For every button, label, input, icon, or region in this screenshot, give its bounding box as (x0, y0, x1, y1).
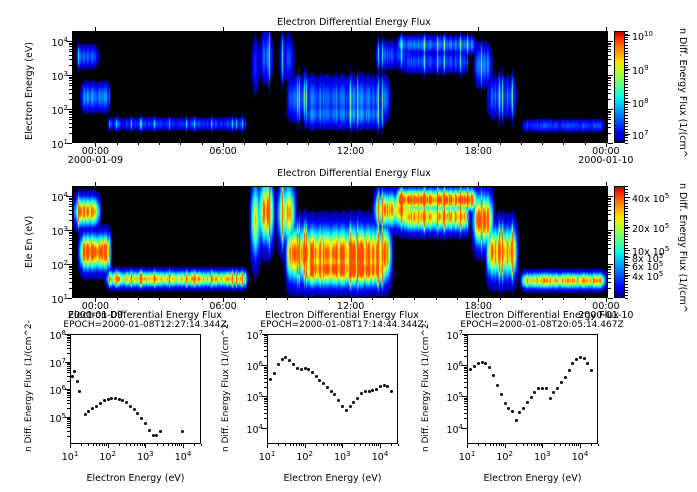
x-tick-minor (496, 444, 497, 446)
data-point (556, 387, 559, 390)
colorbar-tick-minor (625, 225, 628, 226)
y-tick-major-right (608, 41, 613, 42)
colorbar-tick (625, 257, 630, 258)
data-point (568, 369, 571, 372)
y-tick-minor (69, 114, 72, 115)
x-tick-minor (574, 444, 575, 446)
data-point (341, 405, 344, 408)
x-tick-minor (180, 298, 181, 300)
x-tick-date-label: 2000-01-10 (576, 156, 636, 166)
colorbar-tick-minor (625, 217, 628, 218)
data-point (71, 375, 74, 378)
x-tick-minor (117, 143, 118, 145)
data-point (307, 368, 310, 371)
y-tick-minor (67, 408, 70, 409)
y-tick-minor-right (608, 214, 611, 215)
y-tick-minor (464, 343, 467, 344)
top-spectrogram[interactable] (72, 31, 608, 143)
colorbar-tick-minor (625, 295, 628, 296)
data-point (586, 362, 589, 365)
x-tick-minor (354, 444, 355, 446)
x-tick-major-top (478, 27, 479, 31)
x-tick-minor (369, 444, 370, 446)
y-tick-minor (69, 214, 72, 215)
data-point (545, 387, 548, 390)
x-tick-label: 103 (129, 449, 161, 463)
y-tick-minor (69, 85, 72, 86)
colorbar-tick-minor (625, 123, 628, 124)
colorbar-tick-minor (625, 231, 628, 232)
x-tick-minor (95, 298, 96, 300)
colorbar-tick-minor (625, 140, 628, 141)
data-point (292, 363, 295, 366)
x-tick-minor (290, 444, 291, 446)
x-tick-minor (376, 444, 377, 446)
y-tick-minor-right (608, 78, 611, 79)
y-tick-minor (67, 425, 70, 426)
y-tick-minor (264, 413, 267, 414)
y-tick-minor (464, 378, 467, 379)
x-tick-minor (516, 444, 517, 446)
y-tick-minor (464, 387, 467, 388)
y-tick-minor (464, 341, 467, 342)
x-tick-minor (323, 444, 324, 446)
y-tick-minor (69, 272, 72, 273)
colorbar-tick-minor (625, 81, 628, 82)
data-point (99, 402, 102, 405)
x-tick-major (183, 444, 184, 448)
colorbar-tick-minor (625, 290, 628, 291)
x-tick-minor (301, 444, 302, 446)
data-point (473, 365, 476, 368)
y-tick-minor (69, 55, 72, 56)
y-tick-label: 107 (433, 328, 463, 342)
x-tick-minor (287, 298, 288, 300)
colorbar-tick-minor (625, 45, 628, 46)
x-tick-minor (478, 143, 479, 145)
spectrum-1-ylabel: n Diff. Energy Flux (1/(cm^2- (24, 320, 34, 452)
data-point (284, 356, 287, 359)
y-tick-label: 103 (38, 69, 68, 83)
x-tick-minor (99, 444, 100, 446)
colorbar-tick-minor (625, 59, 628, 60)
x-tick-minor (202, 298, 203, 300)
y-tick-minor (69, 244, 72, 245)
top-colorbar-label: n Diff. Energy Flux (1/(cm^ (677, 28, 688, 158)
x-tick-minor (157, 444, 158, 446)
x-tick-minor (531, 444, 532, 446)
colorbar-tick-minor (625, 200, 628, 201)
x-tick-minor (554, 444, 555, 446)
data-point (477, 362, 480, 365)
x-tick-major-top (223, 27, 224, 31)
y-tick-minor (464, 346, 467, 347)
colorbar-tick-minor (625, 262, 628, 263)
data-point (269, 378, 272, 381)
x-tick-date-label: 2000-01-09 (65, 156, 125, 166)
y-tick-minor (67, 392, 70, 393)
y-tick-major-right (608, 196, 613, 197)
colorbar-tick-minor (625, 203, 628, 204)
spectrum-3-ylabel: n Diff. Energy Flux (1/(cm^2- (421, 320, 431, 452)
y-tick-minor (69, 51, 72, 52)
middle-colorbar-label: n Diff. Energy Flux (1/(cm^ (677, 183, 688, 313)
x-tick-minor (102, 444, 103, 446)
colorbar-tick-minor (625, 208, 628, 209)
colorbar-tick-minor (625, 222, 628, 223)
x-tick-minor (565, 444, 566, 446)
colorbar-tick-minor (625, 189, 628, 190)
data-point (95, 405, 98, 408)
y-tick-minor (464, 367, 467, 368)
colorbar-tick-label: 1010 (632, 29, 653, 43)
x-tick-major (305, 444, 306, 448)
y-tick-minor (67, 400, 70, 401)
y-tick-minor-right (608, 269, 611, 270)
colorbar-tick-minor (625, 256, 628, 257)
colorbar-tick-minor (625, 87, 628, 88)
data-point (360, 392, 363, 395)
spectrum-1-plot[interactable] (70, 334, 201, 444)
x-tick-minor (503, 444, 504, 446)
data-point (103, 399, 106, 402)
x-tick-minor (563, 143, 564, 145)
x-tick-minor (572, 444, 573, 446)
y-tick-minor (264, 350, 267, 351)
colorbar-tick-minor (625, 228, 628, 229)
data-point (579, 356, 582, 359)
y-tick-minor (264, 378, 267, 379)
x-tick-minor (285, 444, 286, 446)
y-tick-label: 106 (36, 383, 66, 397)
colorbar-tick-minor (625, 67, 628, 68)
x-tick-minor (569, 444, 570, 446)
y-tick-major-right (608, 264, 613, 265)
y-tick-minor (464, 403, 467, 404)
colorbar-tick-minor (625, 220, 628, 221)
y-tick-minor (69, 274, 72, 275)
y-tick-minor (67, 340, 70, 341)
y-tick-minor (67, 395, 70, 396)
x-tick-minor (163, 444, 164, 446)
x-tick-minor (179, 444, 180, 446)
y-tick-minor (69, 210, 72, 211)
colorbar-tick-label: 107 (632, 128, 649, 142)
x-tick-major (505, 444, 506, 448)
colorbar-tick-minor (625, 287, 628, 288)
y-tick-minor (69, 59, 72, 60)
x-tick-minor (606, 298, 607, 300)
x-tick-major-top (351, 182, 352, 186)
data-point (560, 381, 563, 384)
x-tick-minor (414, 298, 415, 300)
y-tick-minor (69, 201, 72, 202)
colorbar-tick-minor (625, 186, 628, 187)
colorbar-tick-minor (625, 115, 628, 116)
data-point (326, 386, 329, 389)
colorbar-tick-minor (625, 56, 628, 57)
y-tick-minor-right (608, 49, 611, 50)
spectrum-3-xlabel: Electron Energy (eV) (467, 473, 598, 484)
y-tick-minor-right (608, 199, 611, 200)
middle-colorbar (614, 186, 625, 298)
data-point (530, 396, 533, 399)
y-tick-minor (69, 198, 72, 199)
x-tick-minor (329, 143, 330, 145)
y-tick-minor (69, 123, 72, 124)
x-tick-minor (138, 298, 139, 300)
data-point (515, 419, 518, 422)
data-point (469, 368, 472, 371)
y-tick-label: 105 (36, 411, 66, 425)
y-tick-minor (69, 232, 72, 233)
y-tick-label: 102 (38, 103, 68, 117)
y-tick-minor (67, 427, 70, 428)
colorbar-tick-minor (625, 98, 628, 99)
y-tick-minor-right (608, 240, 611, 241)
colorbar-tick-minor (625, 51, 628, 52)
x-tick-minor (287, 143, 288, 145)
y-tick-minor (69, 89, 72, 90)
data-point (140, 417, 143, 420)
x-tick-minor (372, 444, 373, 446)
x-tick-minor (500, 298, 501, 300)
x-tick-minor (457, 143, 458, 145)
y-tick-minor (69, 117, 72, 118)
x-tick-minor (316, 444, 317, 446)
colorbar-tick-minor (625, 248, 628, 249)
y-tick-minor (69, 112, 72, 113)
x-tick-minor (378, 444, 379, 446)
data-point (390, 390, 393, 393)
x-tick-minor (542, 298, 543, 300)
data-point (371, 389, 374, 392)
data-point (481, 361, 484, 364)
colorbar-tick-minor (625, 101, 628, 102)
data-point (330, 390, 333, 393)
x-tick-minor (560, 444, 561, 446)
data-point (277, 363, 280, 366)
x-tick-minor (244, 143, 245, 145)
y-tick-minor (69, 204, 72, 205)
y-tick-minor (67, 348, 70, 349)
x-tick-major (145, 444, 146, 448)
x-tick-minor (372, 143, 373, 145)
x-tick-minor (180, 143, 181, 145)
x-tick-label: 103 (526, 449, 558, 463)
y-tick-minor (464, 337, 467, 338)
x-tick-minor (542, 143, 543, 145)
y-tick-label: 108 (36, 328, 66, 342)
colorbar-tick (625, 35, 630, 36)
data-point (533, 391, 536, 394)
data-point (541, 387, 544, 390)
colorbar-tick-minor (625, 250, 628, 251)
x-tick-minor (500, 143, 501, 145)
x-tick-minor (606, 143, 607, 145)
data-point (315, 375, 318, 378)
colorbar-tick-minor (625, 70, 628, 71)
y-tick-minor-right (608, 117, 611, 118)
colorbar-tick (625, 102, 630, 103)
middle-spectrogram[interactable] (72, 186, 608, 298)
x-tick-label: 101 (251, 449, 283, 463)
x-tick-major-top (95, 27, 96, 31)
x-tick-minor (181, 444, 182, 446)
x-tick-minor (159, 143, 160, 145)
y-tick-minor (69, 65, 72, 66)
y-tick-label: 106 (433, 359, 463, 373)
data-point (356, 397, 359, 400)
x-tick-minor (541, 444, 542, 446)
colorbar-tick-minor (625, 137, 628, 138)
spectrum-1-subtitle: EPOCH=2000-01-08T12:27:14.344Z (40, 320, 250, 330)
x-tick-major (342, 444, 343, 448)
x-tick-label: 06:00 (201, 147, 245, 157)
y-tick-minor (464, 401, 467, 402)
y-tick-minor (69, 269, 72, 270)
x-tick-minor (339, 444, 340, 446)
colorbar-tick-minor (625, 84, 628, 85)
x-tick-major (580, 444, 581, 448)
y-tick-minor (464, 409, 467, 410)
x-tick-minor (499, 444, 500, 446)
colorbar-tick-minor (625, 239, 628, 240)
x-tick-major-top (478, 182, 479, 186)
y-tick-major-right (608, 230, 613, 231)
spectrum-2-plot[interactable] (267, 334, 398, 444)
x-tick-minor (168, 444, 169, 446)
top-panel-ylabel: Electron Energy (eV) (24, 42, 35, 140)
data-point (345, 409, 348, 412)
y-tick-minor (264, 367, 267, 368)
data-point (552, 391, 555, 394)
colorbar-tick (625, 265, 630, 266)
x-tick-minor (93, 444, 94, 446)
data-point (133, 408, 136, 411)
x-tick-minor (391, 444, 392, 446)
x-tick-minor (414, 143, 415, 145)
y-tick-minor (264, 370, 267, 371)
y-tick-minor (69, 133, 72, 134)
colorbar-tick-minor (625, 270, 628, 271)
data-point (379, 385, 382, 388)
y-tick-minor (464, 375, 467, 376)
x-tick-minor (598, 444, 599, 446)
x-tick-major (267, 444, 268, 448)
spectrum-3-plot[interactable] (467, 334, 598, 444)
spectrum-2-subtitle: EPOCH=2000-01-08T17:14:44.344Z (237, 320, 447, 330)
x-tick-label: 102 (289, 449, 321, 463)
x-tick-label: 102 (489, 449, 521, 463)
y-tick-minor (464, 406, 467, 407)
y-tick-label: 101 (38, 292, 68, 306)
colorbar-tick-minor (625, 281, 628, 282)
y-tick-minor-right (608, 112, 611, 113)
y-tick-minor (264, 337, 267, 338)
y-tick-minor-right (608, 238, 611, 239)
x-tick-minor (398, 444, 399, 446)
y-tick-minor (464, 350, 467, 351)
top-colorbar (614, 31, 625, 143)
y-tick-minor-right (608, 244, 611, 245)
x-tick-label: 104 (564, 449, 596, 463)
colorbar-tick-minor (625, 236, 628, 237)
y-tick-label: 104 (38, 190, 68, 204)
y-tick-minor (69, 235, 72, 236)
data-point (114, 397, 117, 400)
colorbar-tick-minor (625, 242, 628, 243)
colorbar-tick-minor (625, 109, 628, 110)
data-point (526, 401, 529, 404)
x-tick-minor (478, 298, 479, 300)
y-tick-minor (67, 345, 70, 346)
x-tick-minor (144, 444, 145, 446)
x-tick-minor (334, 444, 335, 446)
y-tick-minor (464, 370, 467, 371)
y-tick-minor (69, 282, 72, 283)
x-tick-minor (539, 444, 540, 446)
y-tick-minor (69, 206, 72, 207)
data-point (575, 358, 578, 361)
y-tick-minor (69, 111, 72, 112)
y-tick-minor (67, 423, 70, 424)
colorbar-tick-minor (625, 234, 628, 235)
top-colorbar-label-wrap: n Diff. Energy Flux (1/(cm^ (688, 28, 697, 39)
x-tick-minor (576, 444, 577, 446)
colorbar-tick-label: 108 (632, 96, 649, 110)
y-tick-minor (69, 99, 72, 100)
colorbar-tick-minor (625, 37, 628, 38)
y-tick-minor (264, 343, 267, 344)
y-tick-minor (67, 419, 70, 420)
y-tick-minor (69, 220, 72, 221)
x-tick-minor (223, 143, 224, 145)
y-tick-label: 107 (233, 328, 263, 342)
x-tick-label: 101 (451, 449, 483, 463)
x-tick-label: 104 (364, 449, 396, 463)
data-point (352, 401, 355, 404)
y-tick-label: 105 (433, 390, 463, 404)
colorbar-tick-minor (625, 206, 628, 207)
data-point (571, 362, 574, 365)
x-tick-label: 12:00 (329, 147, 373, 157)
x-tick-minor (172, 444, 173, 446)
colorbar-tick-minor (625, 253, 628, 254)
data-point (349, 405, 352, 408)
y-tick-major-right (608, 109, 613, 110)
y-tick-label: 102 (38, 258, 68, 272)
colorbar-tick-minor (625, 112, 628, 113)
y-tick-minor (69, 93, 72, 94)
y-tick-minor-right (608, 55, 611, 56)
colorbar-tick-label: 109 (632, 63, 649, 77)
data-point (375, 388, 378, 391)
y-tick-minor-right (608, 235, 611, 236)
x-tick-major (108, 444, 109, 448)
y-tick-minor-right (608, 206, 611, 207)
x-tick-minor (159, 298, 160, 300)
colorbar-tick-minor (625, 192, 628, 193)
data-point (507, 407, 510, 410)
y-tick-minor (264, 406, 267, 407)
y-tick-minor (69, 254, 72, 255)
data-point (76, 380, 79, 383)
y-tick-minor-right (608, 44, 611, 45)
y-tick-minor (264, 399, 267, 400)
y-tick-label: 104 (233, 422, 263, 436)
x-tick-minor (140, 444, 141, 446)
